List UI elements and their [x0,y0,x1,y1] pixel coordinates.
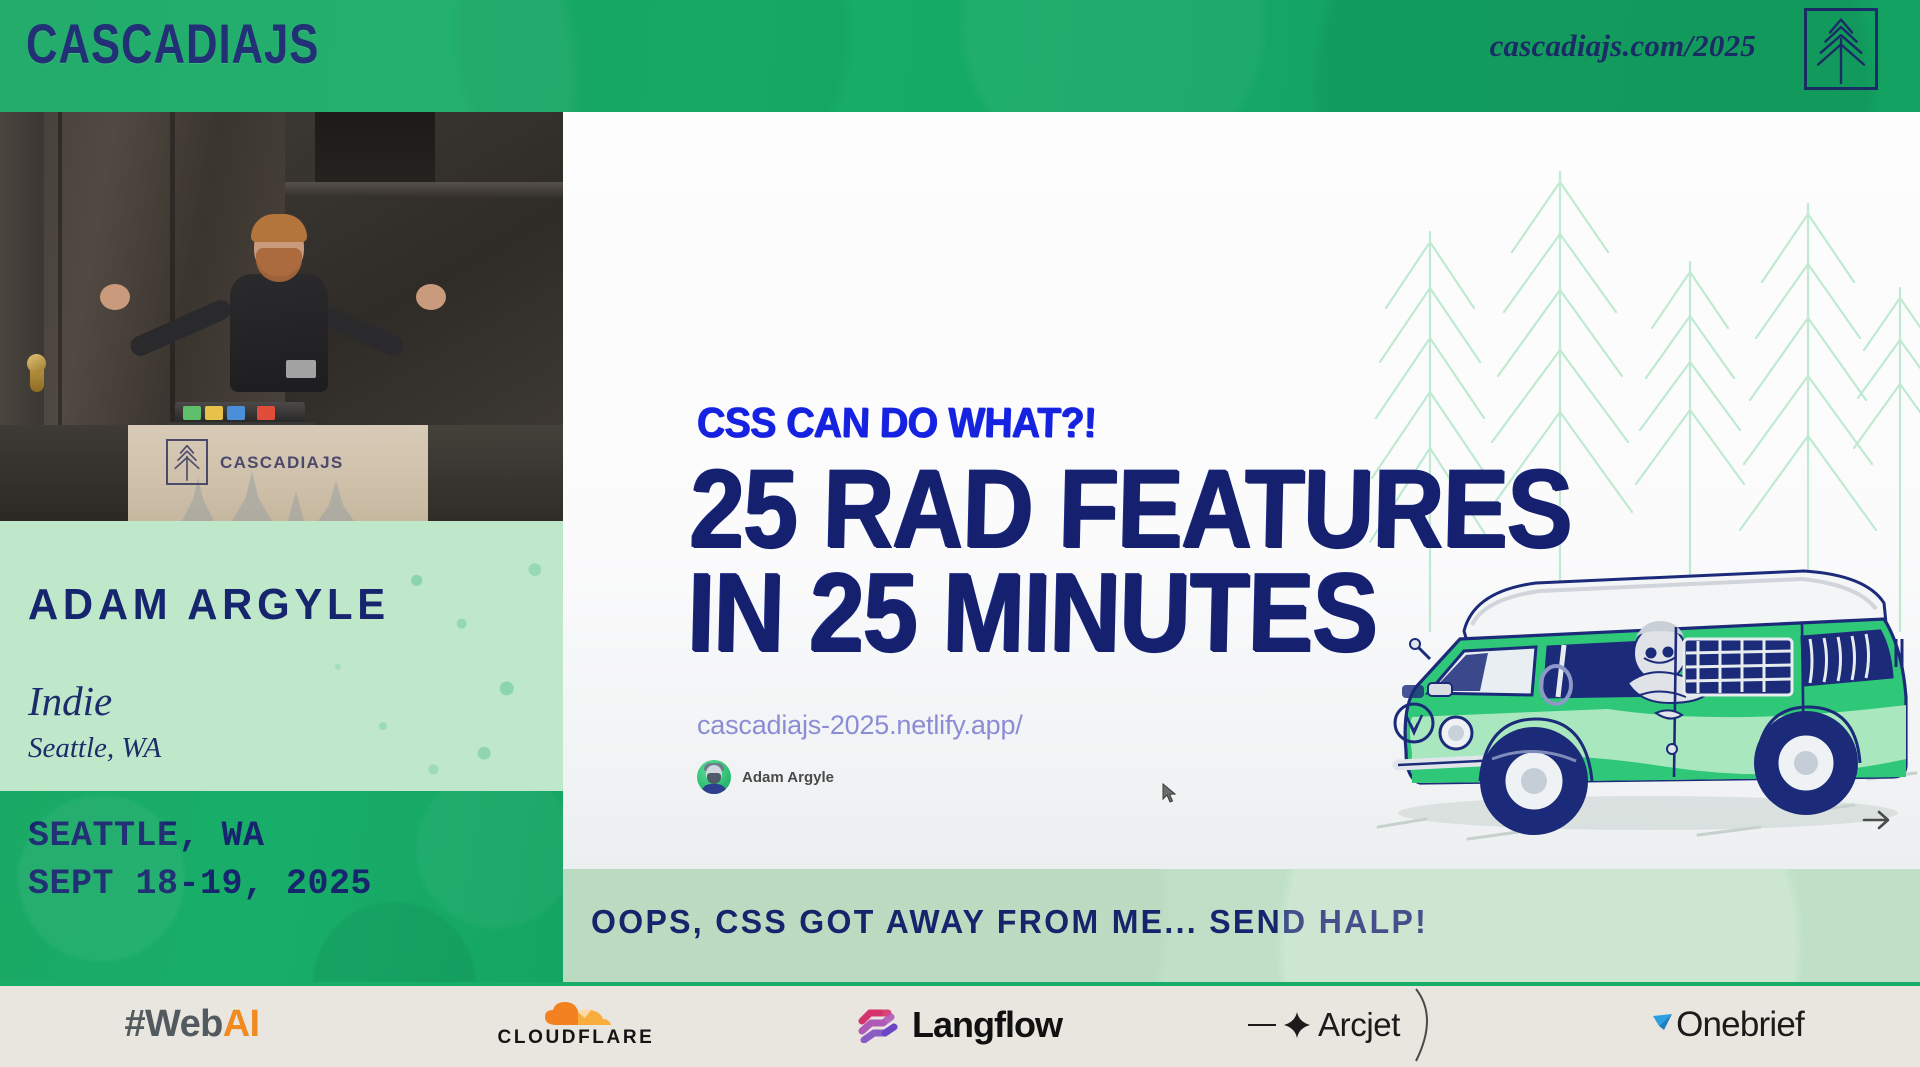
paper-plane-icon [1652,1012,1674,1034]
sponsor-webai[interactable]: #WebAI [0,982,384,1067]
speaker-laptop [175,402,305,426]
speaker-hand-right [416,284,446,310]
arrow-right-icon[interactable] [1860,807,1894,833]
speaker-torso [230,274,328,392]
sponsor-onebrief[interactable]: Onebrief [1536,982,1920,1067]
slide-kicker: CSS CAN DO WHAT?! [696,402,1097,444]
podium-pine-tree-icon [166,439,208,485]
speaker-name: ADAM ARGYLE [28,583,390,627]
sponsor-footer-bar: #WebAI CLOUDFLARE [0,982,1920,1067]
pine-tree-icon [1804,8,1878,90]
stage-floor-right [428,425,563,521]
dash-icon [1248,1024,1276,1026]
speaker-company: Indie [28,681,112,722]
speaker-hand-left [100,284,130,310]
sparkle-star-icon [1284,1012,1310,1038]
onebrief-wordmark: Onebrief [1676,1005,1804,1045]
user-avatar [697,760,731,794]
speaker-figure [208,218,348,418]
mouse-pointer-icon [1162,783,1176,803]
webai-label-accent: AI [223,1003,260,1045]
laptop-sticker [183,406,201,420]
webai-label-dark: #Web [124,1003,222,1045]
presentation-slide[interactable]: CSS CAN DO WHAT?! 25 RAD FEATURES IN 25 … [563,112,1920,869]
conference-url: cascadiajs.com/2025 [1490,28,1756,64]
shirt-logo [286,360,316,378]
conference-header-bar: CASCADIAJS cascadiajs.com/2025 [0,0,1920,112]
avatar-body [701,784,727,794]
cascadiajs-wordmark: CASCADIAJS [26,16,319,72]
slide-deck-url: cascadiajs-2025.netlify.app/ [697,710,1023,741]
conference-podium: CASCADIAJS [128,425,428,521]
sponsor-arcjet[interactable]: Arcjet [1152,982,1536,1067]
door-handle [30,358,44,392]
arcjet-wordmark: Arcjet [1318,1006,1400,1044]
avatar-beard [707,773,721,784]
slide-caption-bar: OOPS, CSS GOT AWAY FROM ME... SEND HALP! [563,869,1920,982]
sponsor-cloudflare[interactable]: CLOUDFLARE [384,982,768,1067]
speaker-webcam-feed: CASCADIAJS [0,112,563,521]
vw-camper-van-illustration [1368,527,1920,857]
event-dates: SEPT 18-19, 2025 [28,867,372,902]
langflow-wordmark: Langflow [912,1004,1062,1046]
cloudflare-wordmark: CLOUDFLARE [498,1027,655,1049]
cloud-icon [537,1000,615,1026]
laptop-sticker [205,406,223,420]
slide-author-name: Adam Argyle [742,769,834,786]
caption-text: OOPS, CSS GOT AWAY FROM ME... SEND HALP! [591,905,1428,938]
stage-floor-left [0,425,135,521]
speaker-info-panel: ADAM ARGYLE Indie Seattle, WA [0,521,563,791]
zigzag-bars-icon [858,1007,900,1043]
webai-wordmark: #WebAI [124,1003,259,1046]
slide-author: Adam Argyle [697,760,834,794]
livestream-viewport: CASCADIAJS cascadiajs.com/2025 [0,0,1920,1067]
event-location: SEATTLE, WA [28,819,265,854]
stage-shelf [285,182,563,198]
laptop-sticker [227,406,245,420]
speaker-hair [251,214,307,242]
sponsor-langflow[interactable]: Langflow [768,982,1152,1067]
laptop-sticker [257,406,275,420]
podium-wordmark: CASCADIAJS [220,453,344,473]
speaker-location: Seattle, WA [28,734,161,763]
arc-bracket-icon [1410,987,1440,1063]
speaker-sidebar: CASCADIAJS ADAM ARGYLE Indie Seattle, WA… [0,112,563,982]
